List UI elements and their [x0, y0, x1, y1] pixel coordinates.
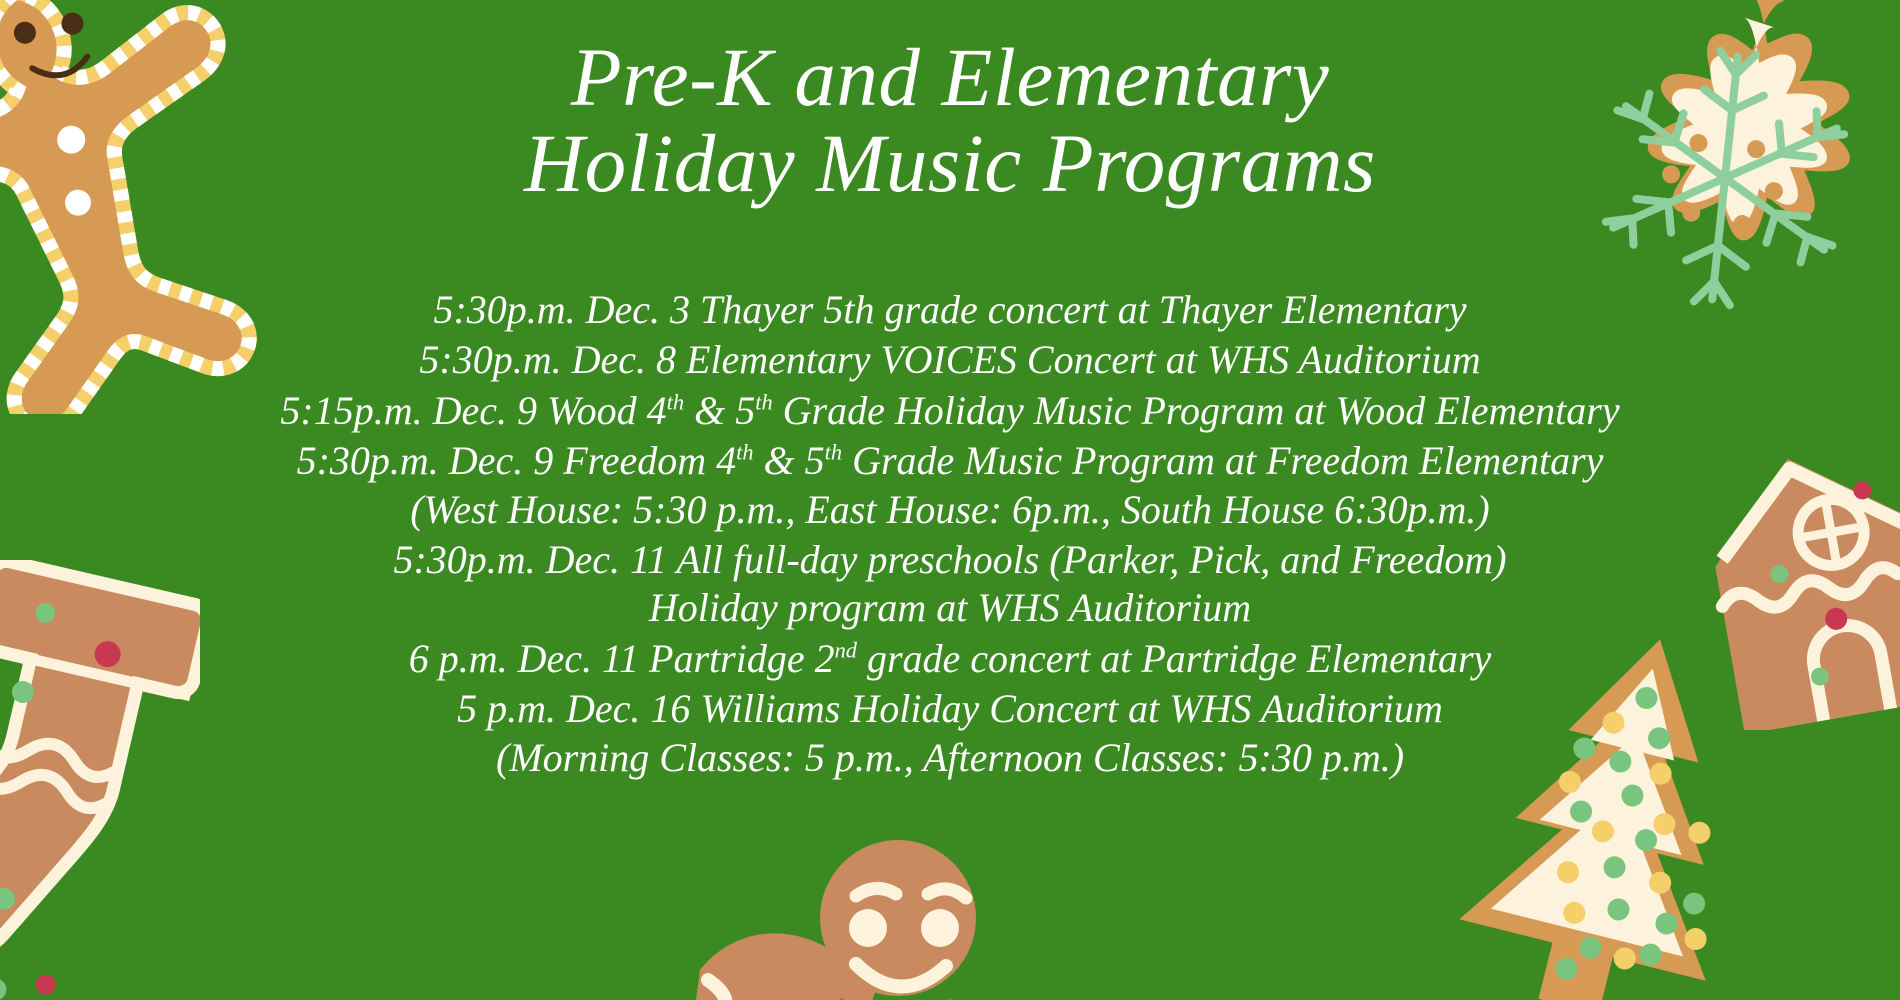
holiday-music-programs-poster: Pre-K and Elementary Holiday Music Progr…: [0, 0, 1900, 1000]
ordinal-suffix: th: [755, 389, 772, 414]
poster-title: Pre-K and Elementary Holiday Music Progr…: [0, 34, 1900, 207]
title-line-2: Holiday Music Programs: [0, 120, 1900, 206]
ordinal-suffix: nd: [835, 637, 857, 662]
title-line-1: Pre-K and Elementary: [0, 34, 1900, 120]
program-subline-williams: (Morning Classes: 5 p.m., Afternoon Clas…: [0, 733, 1900, 783]
program-line-williams: 5 p.m. Dec. 16 Williams Holiday Concert …: [0, 684, 1900, 734]
program-line-thayer: 5:30p.m. Dec. 3 Thayer 5th grade concert…: [0, 285, 1900, 335]
program-subline-freedom: (West House: 5:30 p.m., East House: 6p.m…: [0, 485, 1900, 535]
ordinal-suffix: th: [825, 440, 842, 465]
program-line-voices: 5:30p.m. Dec. 8 Elementary VOICES Concer…: [0, 335, 1900, 385]
program-line-partridge: 6 p.m. Dec. 11 Partridge 2nd grade conce…: [0, 634, 1900, 684]
program-line-wood: 5:15p.m. Dec. 9 Wood 4th & 5th Grade Hol…: [0, 386, 1900, 436]
program-subline-preschools: Holiday program at WHS Auditorium: [0, 583, 1900, 633]
program-line-freedom: 5:30p.m. Dec. 9 Freedom 4th & 5th Grade …: [0, 436, 1900, 486]
ordinal-suffix: th: [736, 440, 753, 465]
gingerbread-man-cookie-bowtie: [640, 820, 1040, 1000]
ordinal-suffix: th: [667, 389, 684, 414]
program-line-preschools: 5:30p.m. Dec. 11 All full-day preschools…: [0, 535, 1900, 585]
program-list: 5:30p.m. Dec. 3 Thayer 5th grade concert…: [0, 285, 1900, 783]
